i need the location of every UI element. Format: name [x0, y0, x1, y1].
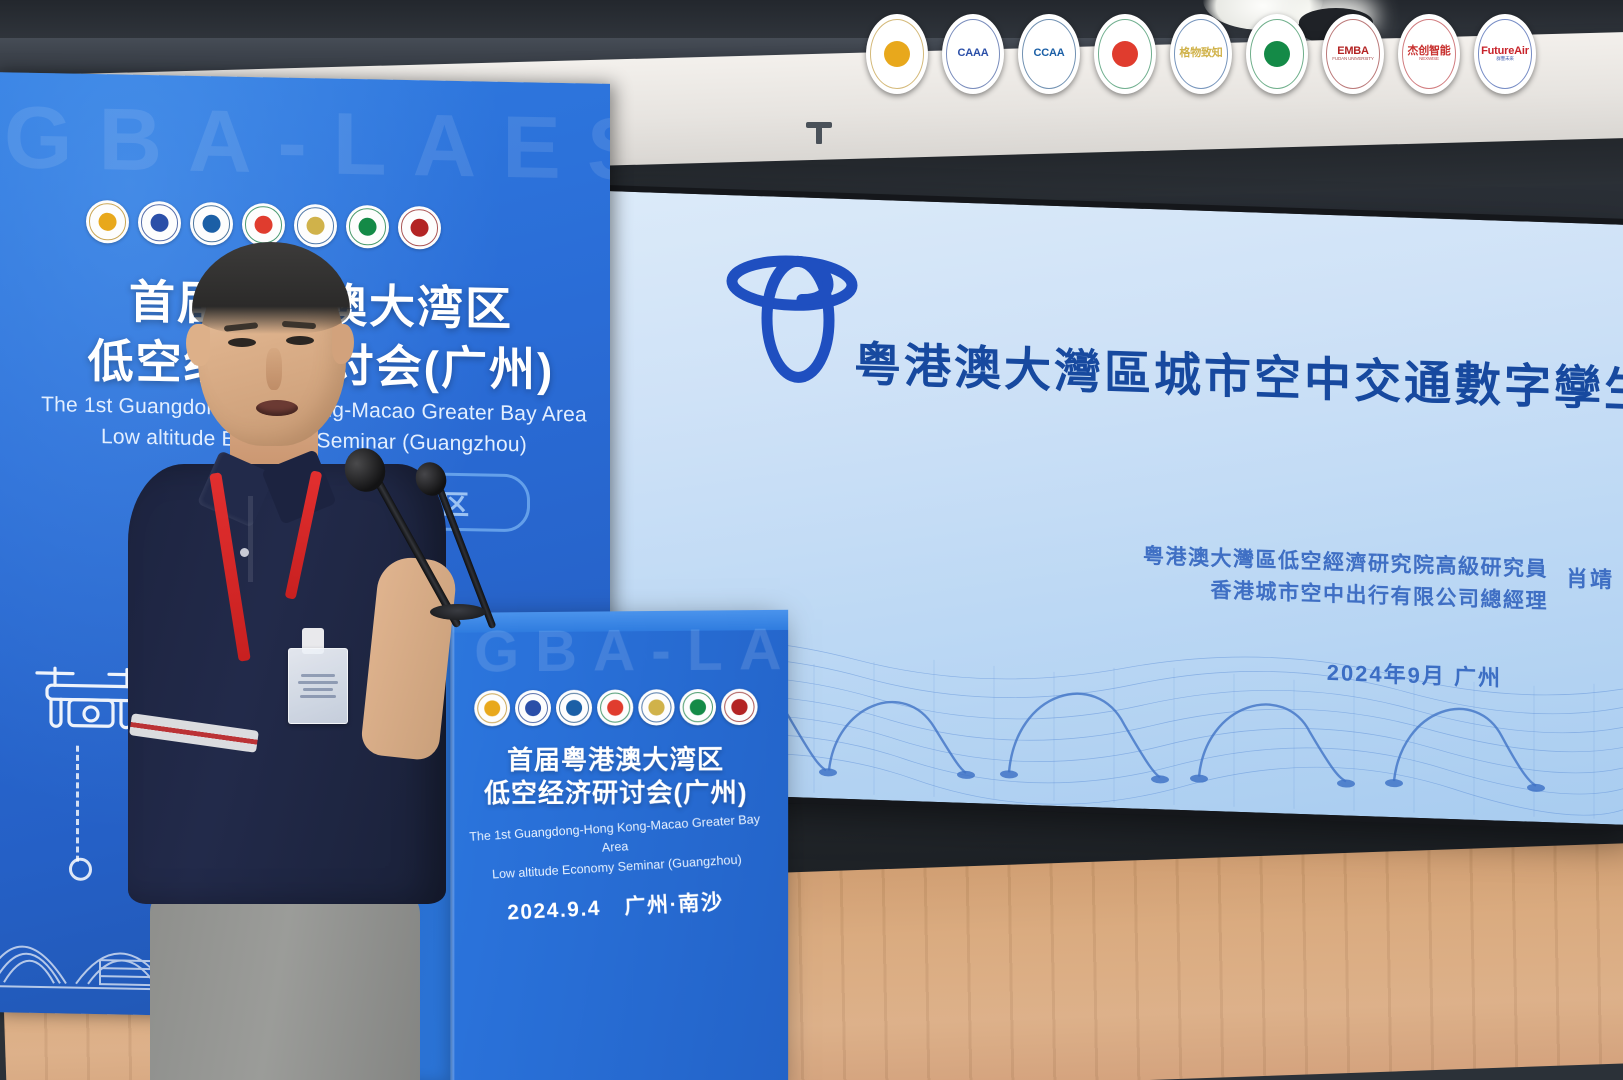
emblem-core: [98, 212, 117, 231]
podium-title-line2: 低空经济研讨会(广州): [484, 777, 748, 811]
slide-title: 粤港澳大灣區城市空中交通數字孿生: [854, 325, 1623, 421]
ceiling-mount-icon: [806, 122, 832, 144]
emblem-ring: [870, 19, 925, 89]
emblem-core: [525, 700, 541, 716]
backdrop-watermark: GBA-LAES: [4, 86, 610, 200]
futureair-logo: FutureAir群豐未來: [1474, 14, 1536, 94]
podium-location: 广州·南沙: [624, 890, 725, 918]
fudan-emba-emblem: [721, 689, 758, 725]
speaker-nose: [266, 348, 282, 390]
speaker-ear-left: [186, 324, 210, 366]
drone-drop-line: [76, 746, 79, 862]
slide-date-location: 2024年9月 广州: [1327, 655, 1502, 693]
podium-title: 首届粤港澳大湾区 低空经济研讨会(广州): [484, 743, 748, 810]
guangzhou-institute-emblem: [1094, 14, 1156, 94]
jinan-university-emblem: [1246, 14, 1308, 94]
guangdong-low-altitude-association-emblem: [866, 14, 928, 94]
macau-university-science-technology-emblem: 格物致知: [1170, 14, 1232, 94]
nexwise-logo: 杰创智能NEXWISE: [1398, 14, 1460, 94]
conference-name-badge: [288, 648, 348, 724]
emblem-ring: [1098, 19, 1153, 89]
podium-emblem-row: [474, 689, 757, 727]
sponsor-emblem-strip: CAAACCAA格物致知EMBAFUDAN UNIVERSITY杰创智能NEXW…: [866, 14, 1536, 94]
podium-date-row: 2024.9.4 广州·南沙: [507, 885, 725, 926]
emblem-core: [607, 700, 623, 716]
speaker-shirt-button: [240, 548, 249, 557]
emblem-core: [484, 700, 500, 716]
microphone-base: [430, 604, 486, 620]
caaa-emblem: CAAA: [942, 14, 1004, 94]
orbit-globe-logo-icon: [722, 233, 862, 386]
speaker-eye-left: [228, 338, 256, 347]
jinan-university-emblem: [680, 689, 716, 725]
speaker-ear-right: [332, 324, 354, 364]
emblem-ring: [946, 19, 1001, 89]
emblem-ring: [1250, 19, 1305, 89]
civil-aviation-admin-emblem: CCAA: [1018, 14, 1080, 94]
emblem-core: [690, 699, 706, 715]
speaker-trousers: [150, 888, 420, 1080]
civil-aviation-admin-emblem: [556, 690, 592, 726]
emblem-ring: [1478, 19, 1533, 89]
presenter-name: 肖靖: [1566, 561, 1614, 595]
emblem-ring: [1022, 19, 1077, 89]
guangzhou-institute-emblem: [597, 689, 633, 725]
speaker-person: [120, 228, 450, 1080]
speaker-hair: [192, 242, 350, 334]
guangdong-low-altitude-association-emblem: [474, 690, 510, 726]
emblem-core: [566, 700, 582, 716]
podium-date: 2024.9.4: [507, 897, 602, 925]
fudan-emba-emblem: EMBAFUDAN UNIVERSITY: [1322, 14, 1384, 94]
presenter-role: 粤港澳大灣區低空經濟研究院高級研究員 香港城市空中出行有限公司總經理: [1143, 541, 1548, 617]
macau-university-science-technology-emblem: [638, 689, 674, 725]
podium-watermark: GBA-LAES: [474, 615, 788, 686]
podium-corner-edge: [450, 613, 454, 1080]
speaker-mouth: [256, 400, 298, 416]
speaker-eye-right: [286, 336, 314, 345]
podium-title-line1: 首届粤港澳大湾区: [484, 743, 748, 777]
podium-sign: 首届粤港澳大湾区 低空经济研讨会(广州) The 1st Guangdong-H…: [460, 689, 772, 1022]
emblem-ring: [1174, 19, 1229, 89]
speaker-shirt-placket: [248, 496, 253, 582]
emblem-ring: [1402, 19, 1457, 89]
podium-subtitle: The 1st Guangdong-Hong Kong-Macao Greate…: [464, 809, 768, 886]
emblem-ring: [1326, 19, 1381, 89]
emblem-core: [731, 699, 747, 715]
caaa-emblem: [515, 690, 551, 726]
conference-photo-scene: 粤港澳大灣區城市空中交通數字孿生 粤港澳大灣區低空經濟研究院高級研究員 香港城市…: [0, 0, 1623, 1080]
emblem-core: [648, 699, 664, 715]
